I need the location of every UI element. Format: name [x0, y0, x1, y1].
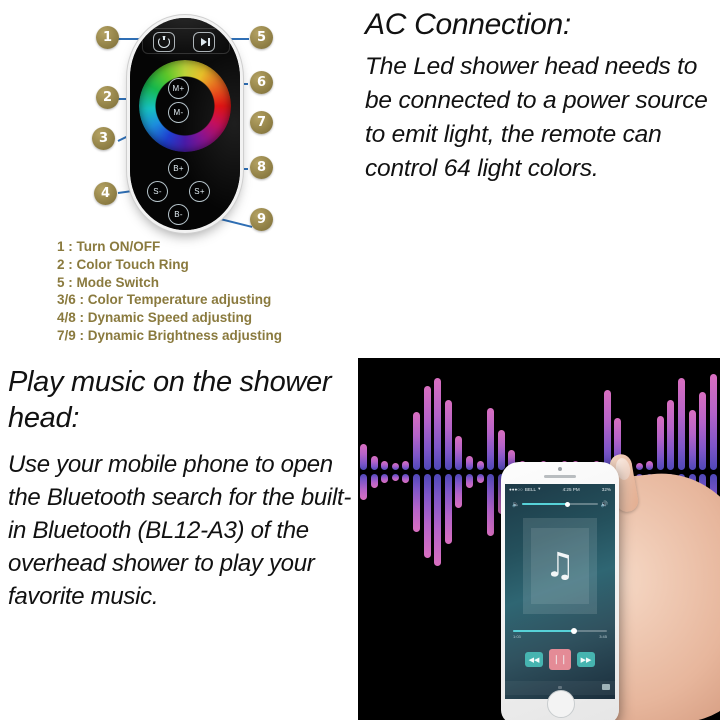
callout-badge-4: 4 — [94, 182, 117, 205]
waveform-bar — [636, 463, 643, 470]
carrier-label: BELL — [525, 487, 536, 492]
volume-low-icon: 🔈 — [512, 501, 519, 508]
ac-connection-section: AC Connection: The Led shower head needs… — [365, 6, 717, 186]
clock-label: 4:25 PM — [540, 487, 601, 492]
airplay-icon[interactable] — [602, 684, 610, 690]
battery-percent-label: 32% — [602, 487, 611, 492]
top-key-group — [142, 28, 230, 54]
music-photo-panel: ●●●○○ BELL ▾ 4:25 PM 32% 🔈 🔊 — [358, 358, 720, 720]
playback-controls: ◀◀ ❘❘ ▶▶ — [505, 649, 615, 670]
waveform-bar — [477, 461, 484, 470]
callout-badge-1: 1 — [96, 26, 119, 49]
play-mode-icon — [201, 38, 207, 46]
waveform-bar — [434, 474, 441, 566]
waveform-bar — [381, 461, 388, 470]
playback-progress-row[interactable]: 1:03 3:45 — [513, 630, 607, 639]
legend-row: 4/8 : Dynamic Speed adjusting — [57, 309, 357, 327]
volume-slider-track[interactable] — [522, 503, 597, 505]
waveform-bar — [424, 474, 431, 558]
earpiece-speaker — [544, 475, 576, 478]
legend-row: 2 : Color Touch Ring — [57, 256, 357, 274]
infographic-page: M+ M- B+ S- S+ B- 1 2 3 4 5 6 7 8 9 1 : … — [0, 0, 720, 720]
progress-track[interactable] — [513, 630, 607, 632]
power-icon — [158, 36, 170, 48]
waveform-bar — [678, 378, 685, 470]
waveform-bar — [455, 474, 462, 508]
legend-row: 3/6 : Color Temperature adjusting — [57, 291, 357, 309]
mode-button[interactable] — [193, 32, 215, 52]
m-plus-button[interactable]: M+ — [168, 78, 189, 99]
status-bar: ●●●○○ BELL ▾ 4:25 PM 32% — [505, 484, 615, 494]
signal-strength-icon: ●●●○○ — [509, 487, 523, 492]
volume-slider-row[interactable]: 🔈 🔊 — [512, 500, 608, 508]
waveform-bar — [381, 474, 388, 483]
s-minus-button[interactable]: S- — [147, 181, 168, 202]
play-music-title: Play music on the shower head: — [8, 364, 360, 436]
volume-slider-knob[interactable] — [565, 502, 570, 507]
callout-badge-9: 9 — [250, 208, 273, 231]
waveform-bar — [667, 400, 674, 470]
waveform-bar — [466, 456, 473, 470]
front-camera — [558, 467, 562, 471]
waveform-bar — [455, 436, 462, 470]
play-music-body: Use your mobile phone to open the Blueto… — [8, 448, 360, 613]
phone-screen[interactable]: ●●●○○ BELL ▾ 4:25 PM 32% 🔈 🔊 — [505, 484, 615, 699]
m-minus-button[interactable]: M- — [168, 102, 189, 123]
music-note-icon: ♫ — [545, 548, 575, 582]
legend-list: 1 : Turn ON/OFF 2 : Color Touch Ring 5 :… — [57, 238, 357, 345]
album-art: ♫ — [523, 518, 597, 614]
album-art-inner: ♫ — [531, 528, 589, 604]
dock-indicator — [558, 686, 562, 689]
ac-connection-body: The Led shower head needs to be connecte… — [365, 50, 717, 186]
waveform-bar — [699, 392, 706, 470]
waveform-bar — [360, 474, 367, 500]
waveform-bar — [392, 474, 399, 481]
waveform-bar — [424, 386, 431, 470]
waveform-bar — [487, 408, 494, 470]
legend-row: 5 : Mode Switch — [57, 274, 357, 292]
legend-row: 7/9 : Dynamic Brightness adjusting — [57, 327, 357, 345]
rewind-button[interactable]: ◀◀ — [525, 652, 543, 667]
pause-button[interactable]: ❘❘ — [549, 649, 571, 670]
waveform-bar — [466, 474, 473, 488]
progress-times: 1:03 3:45 — [513, 634, 607, 639]
s-plus-button[interactable]: S+ — [189, 181, 210, 202]
remaining-time-label: 3:45 — [599, 634, 607, 639]
waveform-bar — [445, 474, 452, 544]
remote-control-body: M+ M- B+ S- S+ B- — [130, 18, 240, 230]
progress-knob[interactable] — [571, 628, 577, 634]
callout-badge-8: 8 — [250, 156, 273, 179]
power-button[interactable] — [153, 32, 175, 52]
waveform-bar — [477, 474, 484, 483]
progress-fill — [513, 630, 573, 632]
waveform-bar — [392, 463, 399, 470]
legend-row: 1 : Turn ON/OFF — [57, 238, 357, 256]
waveform-bar — [360, 444, 367, 470]
waveform-bar — [413, 412, 420, 470]
volume-high-icon: 🔊 — [601, 501, 608, 508]
b-plus-button[interactable]: B+ — [168, 158, 189, 179]
ac-connection-title: AC Connection: — [365, 6, 717, 44]
callout-badge-2: 2 — [96, 86, 119, 109]
callout-badge-7: 7 — [250, 111, 273, 134]
waveform-bar — [689, 410, 696, 470]
waveform-bar — [434, 378, 441, 470]
waveform-bar — [371, 474, 378, 488]
waveform-bar — [710, 374, 717, 470]
volume-slider-fill — [522, 503, 567, 505]
forward-button[interactable]: ▶▶ — [577, 652, 595, 667]
waveform-bar — [445, 400, 452, 470]
waveform-bar — [402, 474, 409, 483]
waveform-bar — [413, 474, 420, 532]
b-minus-button[interactable]: B- — [168, 204, 189, 225]
waveform-bar — [371, 456, 378, 470]
waveform-bar — [402, 461, 409, 470]
callout-badge-3: 3 — [92, 127, 115, 150]
waveform-bar — [646, 461, 653, 470]
callout-badge-6: 6 — [250, 71, 273, 94]
waveform-bar — [487, 474, 494, 536]
waveform-bar — [657, 416, 664, 470]
callout-badge-5: 5 — [250, 26, 273, 49]
elapsed-time-label: 1:03 — [513, 634, 521, 639]
waveform-bar — [604, 390, 611, 470]
play-music-section: Play music on the shower head: Use your … — [8, 364, 360, 613]
home-button[interactable] — [547, 690, 575, 718]
smartphone: ●●●○○ BELL ▾ 4:25 PM 32% 🔈 🔊 — [501, 462, 619, 720]
waveform-bar — [498, 430, 505, 470]
